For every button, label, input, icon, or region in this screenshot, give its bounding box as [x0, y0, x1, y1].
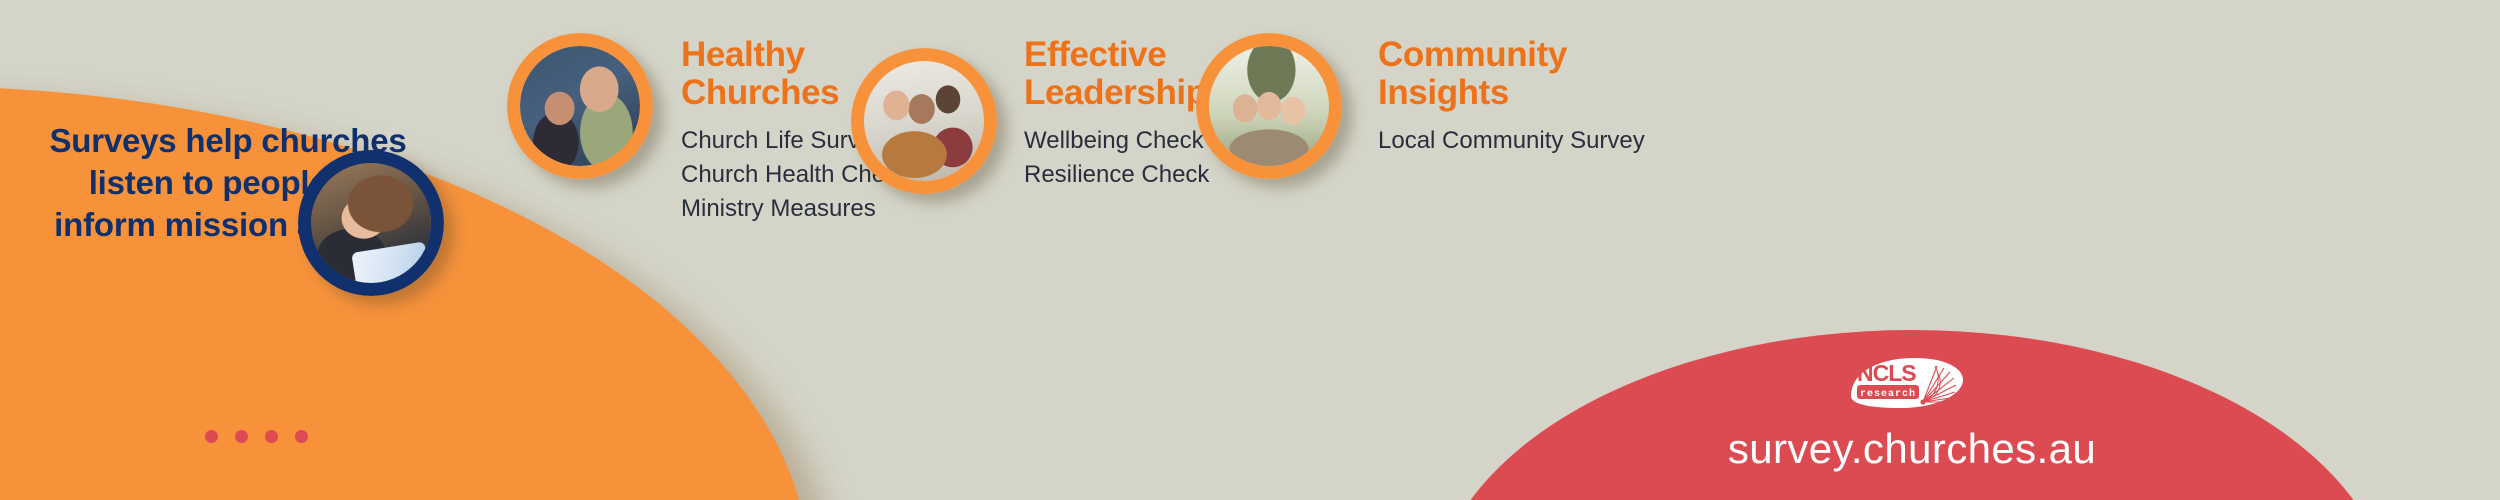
- list-item: Ministry Measures: [681, 192, 909, 226]
- photo-girl-survey: [298, 150, 444, 296]
- svg-text:NCLS: NCLS: [1857, 360, 1916, 386]
- list-item: Wellbeing Check: [1024, 124, 1209, 158]
- photo-healthy-churches: [507, 33, 653, 179]
- photo-healthy-image: [520, 46, 640, 166]
- photo-leadership-image: [864, 61, 984, 181]
- dot: [235, 430, 248, 443]
- photo-effective-leadership: [851, 48, 997, 194]
- photo-girl-image: [311, 163, 431, 283]
- survey-url[interactable]: survey.churches.au: [1432, 425, 2392, 473]
- ncls-research-logo: NCLS research: [1845, 352, 1967, 414]
- dot: [295, 430, 308, 443]
- list-item: Resilience Check: [1024, 158, 1209, 192]
- photo-community-insights: [1196, 33, 1342, 179]
- column-items-leadership: Wellbeing Check Resilience Check: [1024, 124, 1209, 192]
- list-item: Local Community Survey: [1378, 124, 1645, 158]
- dot: [265, 430, 278, 443]
- svg-text:research: research: [1860, 388, 1916, 400]
- column-heading-leadership: Effective Leadership: [1024, 36, 1209, 112]
- decorative-dots: [205, 430, 308, 443]
- column-effective-leadership: Effective Leadership Wellbeing Check Res…: [1024, 36, 1209, 192]
- column-items-community: Local Community Survey: [1378, 124, 1645, 158]
- promo-banner: Surveys help churches listen to people t…: [0, 0, 2500, 500]
- column-heading-community: Community Insights: [1378, 36, 1645, 112]
- ncls-logo-icon: NCLS research: [1845, 352, 1967, 414]
- column-community-insights: Community Insights Local Community Surve…: [1378, 36, 1645, 158]
- dot: [205, 430, 218, 443]
- photo-community-image: [1209, 46, 1329, 166]
